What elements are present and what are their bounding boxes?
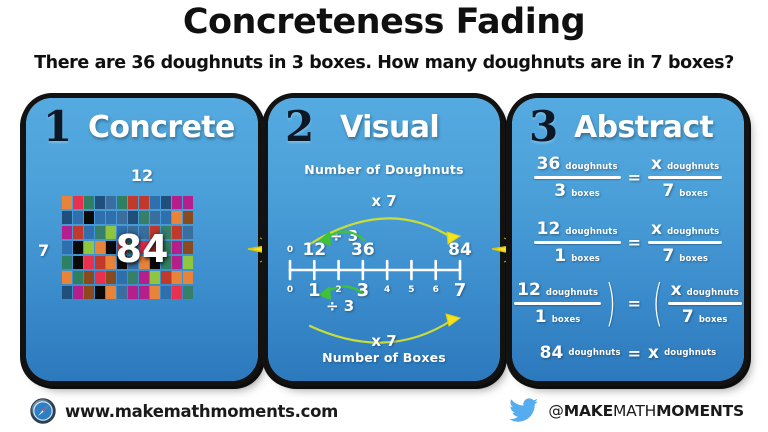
compass-icon: [30, 398, 56, 424]
multiply-label-bottom: x 7: [268, 332, 500, 350]
panel-visual[interactable]: 2 Visual Number of Doughnuts x 7 ÷ 3 012…: [268, 98, 500, 381]
bottom-tick-label: 7: [442, 280, 478, 301]
twitter-bird-icon: [509, 398, 539, 423]
numerator-unit: doughnuts: [565, 227, 617, 237]
fraction-bar: [668, 302, 742, 305]
twitter-moments: MOMENTS: [656, 402, 744, 420]
result-unit: doughnuts: [568, 348, 620, 358]
unknown-unit: doughnuts: [664, 348, 716, 358]
panel-abstract[interactable]: 3 Abstract 36 doughnuts 3 boxes = x doug…: [512, 98, 744, 381]
top-tick-label: 36: [345, 240, 381, 260]
fraction-left: 36 doughnuts 3 boxes: [534, 154, 621, 201]
numerator-value: 36: [537, 154, 561, 174]
denominator-value: 7: [662, 246, 674, 266]
website-url[interactable]: www.makemathmoments.com: [65, 402, 338, 421]
numerator-value: x: [651, 219, 662, 239]
twitter-at: @: [548, 402, 563, 420]
result-value: 84: [540, 343, 564, 363]
equation-result: 84 doughnuts = x doughnuts: [512, 343, 744, 363]
fraction-bar: [534, 241, 621, 244]
denominator-unit: boxes: [699, 315, 728, 325]
numerator-unit: doughnuts: [687, 288, 739, 298]
equals-sign: =: [628, 168, 641, 187]
fraction-bar: [534, 176, 621, 179]
numerator-value: 12: [537, 219, 561, 239]
numerator-value: x: [671, 280, 682, 300]
panel-number: 3: [529, 106, 558, 148]
equation-proportion-2: 12 doughnuts 1 boxes = x doughnuts 7 box…: [512, 219, 744, 266]
panel-title: Concrete: [88, 109, 235, 147]
footer-website[interactable]: www.makemathmoments.com: [30, 398, 338, 424]
poster-canvas: Concreteness Fading There are 36 doughnu…: [0, 0, 768, 432]
panel-abstract-header: 3 Abstract: [512, 106, 744, 152]
fraction-right: x doughnuts 7 boxes: [648, 154, 722, 201]
top-tick-label: 12: [296, 240, 332, 260]
panel-title: Abstract: [574, 109, 713, 147]
array-rows-label: 7: [38, 241, 49, 260]
denominator-unit: boxes: [571, 189, 600, 199]
fraction-left: 12 doughnuts 1 boxes: [534, 219, 621, 266]
panel-number: 1: [43, 106, 72, 148]
numerator-unit: doughnuts: [565, 162, 617, 172]
numerator-value: 12: [517, 280, 541, 300]
twitter-handle[interactable]: @MAKEMATHMOMENTS: [548, 402, 744, 420]
equals-sign: =: [628, 294, 641, 313]
numerator-unit: doughnuts: [546, 288, 598, 298]
denominator-unit: boxes: [571, 254, 600, 264]
equals-sign: =: [628, 344, 641, 363]
array-answer: 84: [62, 196, 222, 301]
fraction-right: x doughnuts 7 boxes: [668, 280, 742, 327]
twitter-make: MAKE: [564, 402, 613, 420]
problem-statement: There are 36 doughnuts in 3 boxes. How m…: [0, 53, 768, 73]
fraction-left: 12 doughnuts 1 boxes: [514, 280, 601, 327]
denominator-value: 7: [682, 307, 694, 327]
denominator-value: 1: [535, 307, 547, 327]
fraction-bar: [648, 241, 722, 244]
panel-concrete[interactable]: 1 Concrete 12 7 84: [26, 98, 258, 381]
unknown-value: x: [648, 343, 659, 363]
fraction-bar: [648, 176, 722, 179]
numerator-value: x: [651, 154, 662, 174]
fraction-bar: [514, 302, 601, 305]
denominator-value: 7: [662, 181, 674, 201]
panel-concrete-header: 1 Concrete: [26, 106, 258, 152]
numerator-unit: doughnuts: [667, 227, 719, 237]
equation-proportion-3: 7 boxes ( 12 doughnuts 1 boxes ) = ( x d…: [512, 280, 744, 327]
numerator-unit: doughnuts: [667, 162, 719, 172]
equals-sign: =: [628, 233, 641, 252]
array-columns-label: 12: [26, 166, 258, 185]
footer-twitter[interactable]: @MAKEMATHMOMENTS: [509, 398, 744, 423]
equation-proportion-1: 36 doughnuts 3 boxes = x doughnuts 7 box…: [512, 154, 744, 201]
denominator-unit: boxes: [552, 315, 581, 325]
denominator-unit: boxes: [679, 189, 708, 199]
denominator-value: 1: [554, 246, 566, 266]
bottom-axis-label: Number of Boxes: [268, 350, 500, 365]
denominator-unit: boxes: [679, 254, 708, 264]
page-title: Concreteness Fading: [0, 2, 768, 42]
top-tick-label: 84: [442, 240, 478, 260]
twitter-math: MATH: [613, 402, 656, 420]
divide-label-bottom: ÷ 3: [326, 297, 354, 315]
denominator-value: 3: [554, 181, 566, 201]
fraction-right: x doughnuts 7 boxes: [648, 219, 722, 266]
